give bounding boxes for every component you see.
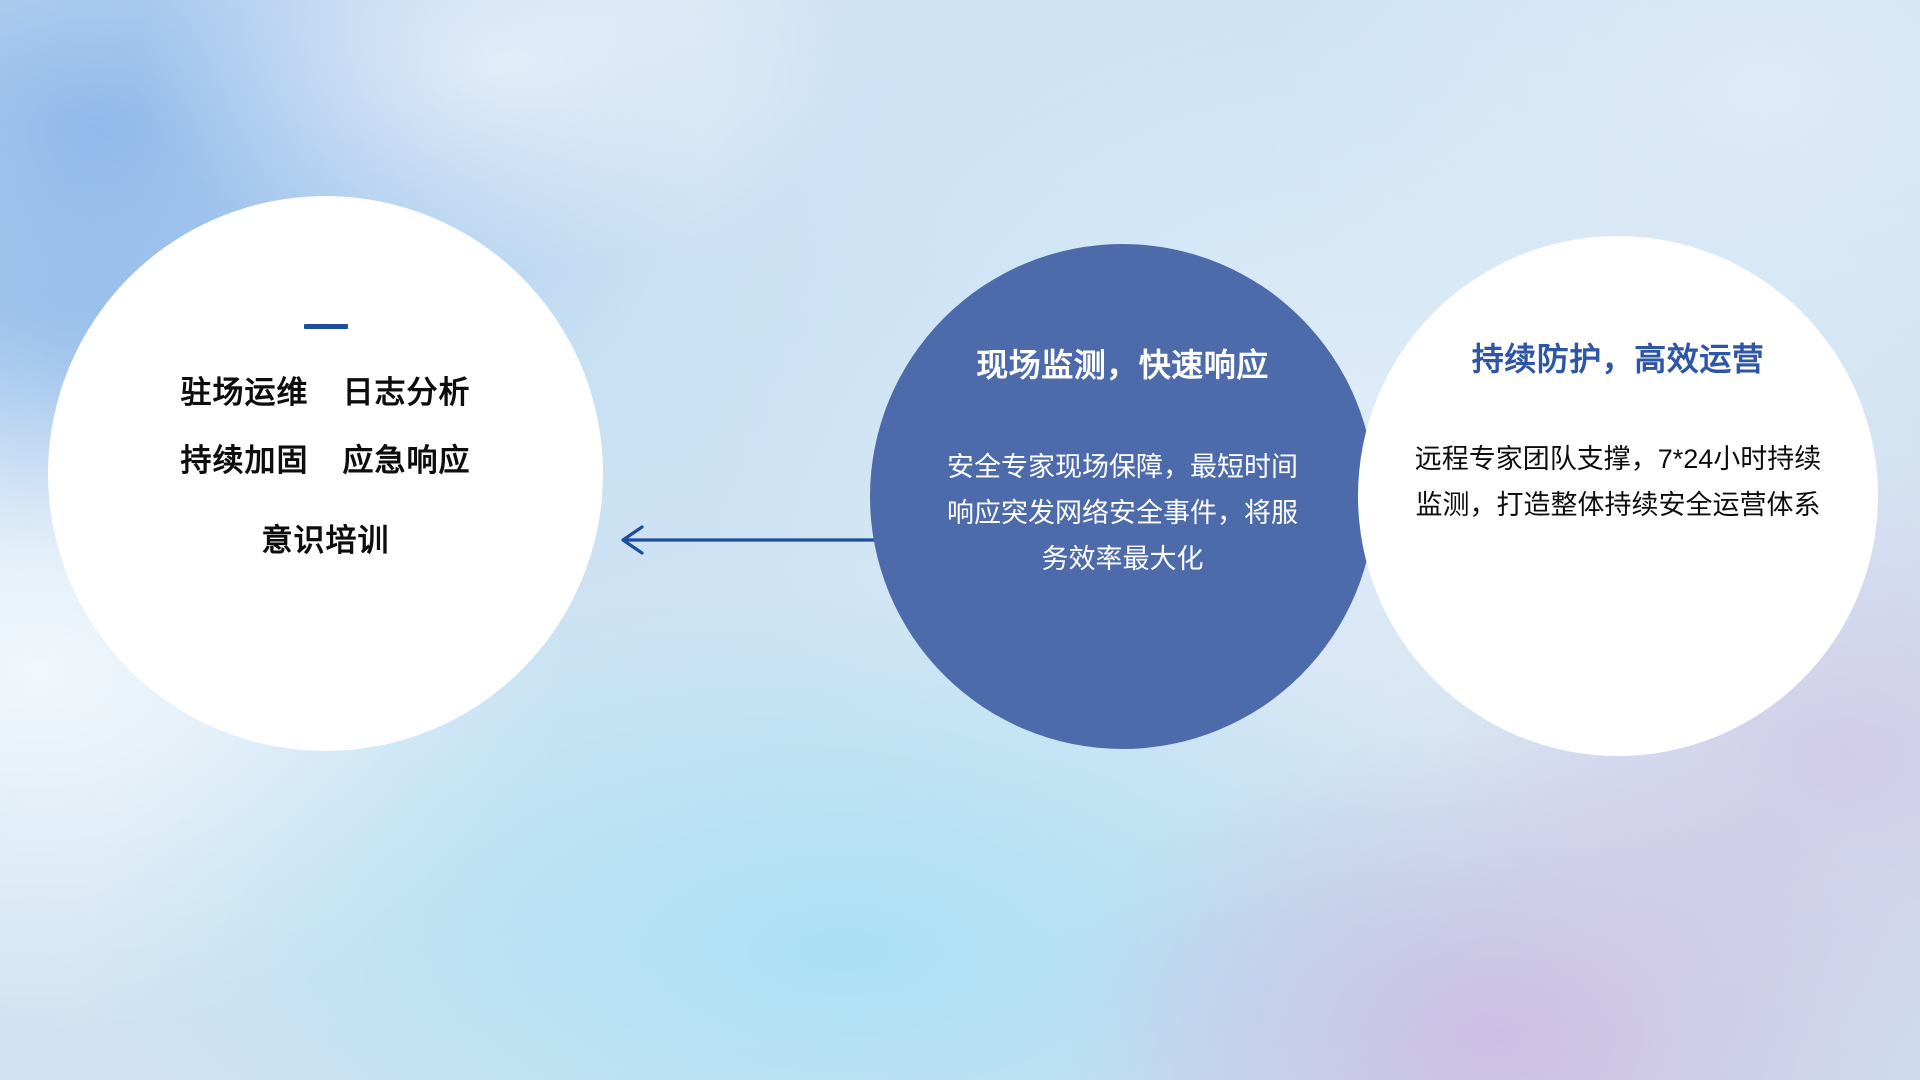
capability-item[interactable]: 日志分析 (343, 367, 471, 412)
capability-item[interactable]: 驻场运维 (181, 367, 309, 412)
right-circle-body: 远程专家团队支撑，7*24小时持续监测，打造整体持续安全运营体系 (1408, 436, 1828, 528)
accent-divider-line (304, 324, 348, 329)
middle-onsite-circle[interactable]: 现场监测，快速响应 安全专家现场保障，最短时间响应突发网络安全事件，将服务效率最… (870, 244, 1375, 749)
middle-circle-title: 现场监测，快速响应 (976, 340, 1269, 386)
connector-arrow (608, 520, 898, 560)
left-capability-circle[interactable]: 驻场运维 日志分析 持续加固 应急响应 意识培训 (48, 196, 603, 751)
right-circle-title: 持续防护，高效运营 (1472, 334, 1765, 380)
capability-row: 意识培训 (262, 515, 390, 560)
capability-list: 驻场运维 日志分析 持续加固 应急响应 意识培训 (181, 367, 471, 560)
capability-row: 驻场运维 日志分析 (181, 367, 471, 412)
slide-canvas: 驻场运维 日志分析 持续加固 应急响应 意识培训 现场监测，快速响应 安全专家现… (0, 0, 1920, 1080)
capability-item[interactable]: 意识培训 (262, 515, 390, 560)
capability-item[interactable]: 应急响应 (343, 435, 471, 480)
capability-item[interactable]: 持续加固 (181, 435, 309, 480)
left-arrow-icon (608, 520, 898, 560)
middle-circle-body: 安全专家现场保障，最短时间响应突发网络安全事件，将服务效率最大化 (935, 444, 1311, 582)
capability-row: 持续加固 应急响应 (181, 435, 471, 480)
right-operations-circle[interactable]: 持续防护，高效运营 远程专家团队支撑，7*24小时持续监测，打造整体持续安全运营… (1358, 236, 1878, 756)
